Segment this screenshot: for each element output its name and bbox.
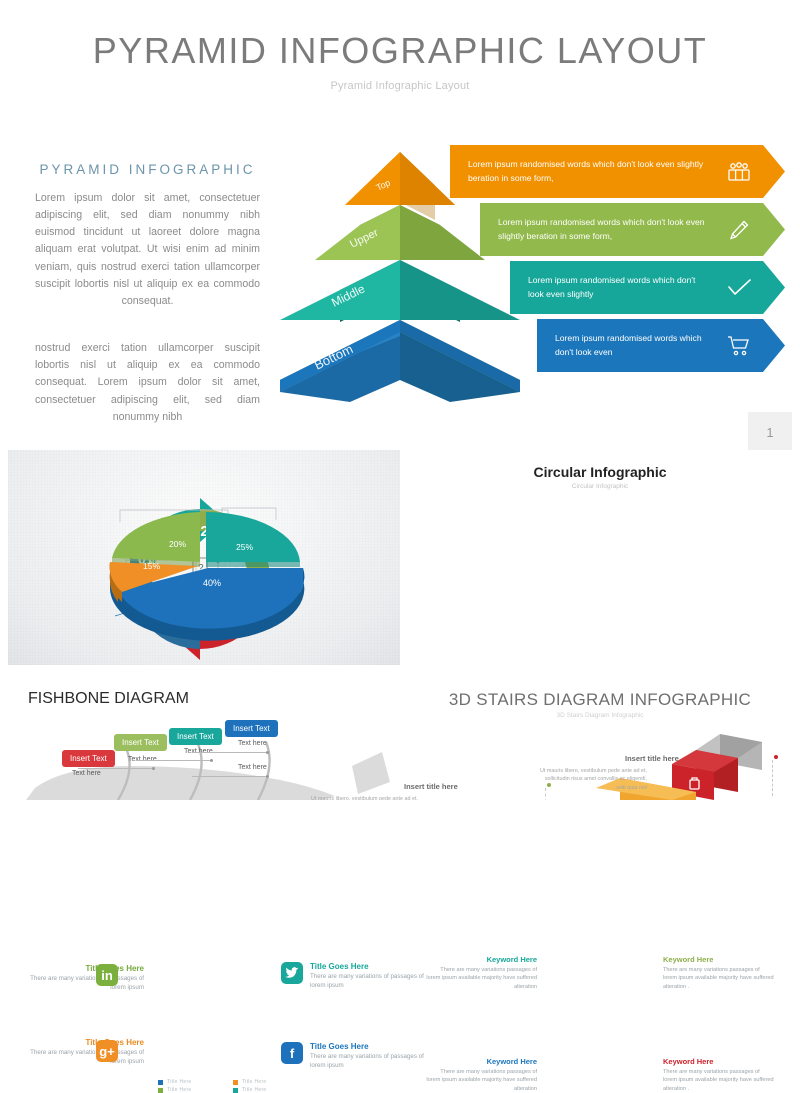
stairs-item-1-desc: Ut mauris libero, vestibulum pede ante a…: [537, 767, 647, 792]
pie-value-linkedin: 20%: [169, 539, 186, 549]
slide-charts: 40% 25% 20% 15% Title Goes Here There ar…: [0, 450, 800, 670]
fishbone-chip-4[interactable]: Insert Text: [225, 720, 278, 737]
pie-value-googleplus: 15%: [143, 561, 160, 571]
legend-swatch: [158, 1088, 163, 1093]
banner-upper-text: Lorem ipsum randomised words which don't…: [498, 216, 713, 243]
cart-icon: [719, 335, 759, 357]
banner-bottom[interactable]: Lorem ipsum randomised words which don't…: [537, 319, 785, 372]
twitter-icon[interactable]: [281, 962, 303, 984]
banner-top-text: Lorem ipsum randomised words which don't…: [468, 158, 713, 185]
facebook-icon[interactable]: f: [281, 1042, 303, 1064]
pie-label-twitter-desc: There are many variations of passages of…: [310, 973, 428, 991]
pie-label-linkedin-title: Title Goes Here: [26, 964, 144, 973]
pie-legend-item: Title Here: [233, 1087, 308, 1093]
pie-label-googleplus-title: Title Goes Here: [26, 1038, 144, 1047]
pie-label-linkedin: Title Goes Here There are many variation…: [26, 964, 144, 993]
circular-keyword-04-desc: There are many variations passages of lo…: [663, 1068, 775, 1093]
pie-value-twitter: 25%: [236, 542, 253, 552]
legend-swatch: [233, 1080, 238, 1085]
fishbone-title: FISHBONE DIAGRAM: [28, 690, 189, 708]
legend-label: Title Here: [242, 1079, 267, 1085]
circular-keyword-03-desc: There are many variations passages of lo…: [663, 966, 775, 991]
slide-pyramid-infographic: PYRAMID INFOGRAPHIC LAYOUT Pyramid Infog…: [0, 0, 800, 440]
fishbone-line-3: [136, 760, 210, 761]
pie-legend-item: Title Here: [158, 1087, 233, 1093]
pencil-icon: [719, 218, 759, 242]
fishbone-chip-1[interactable]: Insert Text: [62, 750, 115, 767]
left-heading: PYRAMID INFOGRAPHIC: [35, 162, 260, 177]
pyramid-level-middle: [280, 260, 520, 332]
pie-chart-graphic: 40% 25% 20% 15%: [0, 450, 400, 670]
stairs-item-2-title: Insert title here: [404, 782, 458, 791]
fishbone-dot-4a: [266, 751, 269, 754]
fishbone-chip-3[interactable]: Insert Text: [169, 728, 222, 745]
circular-keyword-02-title: Keyword Here: [425, 955, 537, 964]
pie-label-facebook-desc: There are many variations of passages of…: [310, 1053, 428, 1071]
circular-keyword-01: Keyword Here There are many variations p…: [425, 1057, 537, 1093]
pie-label-googleplus: Title Goes Here There are many variation…: [26, 1038, 144, 1067]
banner-top[interactable]: Lorem ipsum randomised words which don't…: [450, 145, 785, 198]
googleplus-icon[interactable]: g+: [96, 1040, 118, 1062]
banner-upper[interactable]: Lorem ipsum randomised words which don't…: [480, 203, 785, 256]
circular-keyword-03: Keyword Here There are many variations p…: [663, 955, 775, 991]
fishbone-graphic: [0, 710, 400, 800]
circular-title: Circular Infographic: [400, 464, 800, 480]
legend-label: Title Here: [167, 1079, 192, 1085]
fishbone-dot-2: [152, 767, 155, 770]
circular-keyword-04: Keyword Here There are many variations p…: [663, 1057, 775, 1093]
pyramid-diagram: Top Upper Middle Bottom Lorem ipsum rand…: [275, 140, 785, 405]
pie-legend: Title Here Title Here Title Here Title H…: [158, 1079, 308, 1093]
legend-swatch: [158, 1080, 163, 1085]
stairs-item-1-dot: [774, 755, 778, 759]
pie-label-linkedin-desc: There are many variations of passages of…: [26, 975, 144, 993]
fishbone-sub-4a: Text here: [238, 740, 267, 747]
pie-label-facebook: Title Goes Here There are many variation…: [310, 1042, 428, 1071]
slide-bottom-previews: FISHBONE DIAGRAM Insert Text Text here I…: [0, 672, 800, 800]
left-paragraph-2: nostrud exerci tation ullamcorper suscip…: [35, 340, 260, 426]
pie-legend-item: Title Here: [233, 1079, 308, 1085]
fishbone-chip-2[interactable]: Insert Text: [114, 734, 167, 751]
circular-keyword-04-title: Keyword Here: [663, 1057, 775, 1066]
circular-keyword-02-desc: There are many variations passages of lo…: [425, 966, 537, 991]
circular-infographic-panel: Circular Infographic Circular Infographi…: [400, 450, 800, 670]
page-title: PYRAMID INFOGRAPHIC LAYOUT: [0, 30, 800, 72]
legend-label: Title Here: [242, 1087, 267, 1093]
stairs-title: 3D STAIRS DIAGRAM INFOGRAPHIC: [400, 690, 800, 710]
check-icon: [719, 277, 759, 299]
stairs-item-2-desc: Ut mauris libero, vestibulum pede ante a…: [308, 795, 418, 800]
banner-bottom-text: Lorem ipsum randomised words which don't…: [555, 332, 713, 359]
pie-label-facebook-title: Title Goes Here: [310, 1042, 428, 1051]
circular-keyword-01-title: Keyword Here: [425, 1057, 537, 1066]
fishbone-line-4b: [192, 776, 266, 777]
left-text-column: PYRAMID INFOGRAPHIC Lorem ipsum dolor si…: [35, 162, 260, 466]
banner-middle[interactable]: Lorem ipsum randomised words which don't…: [510, 261, 785, 314]
linkedin-icon[interactable]: in: [96, 964, 118, 986]
pie-label-twitter: Title Goes Here There are many variation…: [310, 962, 428, 991]
pie-legend-item: Title Here: [158, 1079, 233, 1085]
fishbone-dot-3: [210, 759, 213, 762]
stairs-item-1-title: Insert title here: [625, 754, 679, 763]
circular-keyword-03-title: Keyword Here: [663, 955, 775, 964]
fishbone-sub-1: Text here: [72, 770, 101, 777]
legend-label: Title Here: [167, 1087, 192, 1093]
pyramid-level-upper: [315, 205, 485, 260]
stairs-subtitle: 3D Stairs Diagram Infographic: [400, 712, 800, 719]
people-icon: [719, 162, 759, 182]
stairs-item-2-line: [545, 788, 546, 800]
circular-keyword-01-desc: There are many variations passages of lo…: [425, 1068, 537, 1093]
pie-label-twitter-title: Title Goes Here: [310, 962, 428, 971]
page-number-badge: 1: [748, 412, 792, 452]
circular-keyword-02: Keyword Here There are many variations p…: [425, 955, 537, 991]
circular-subtitle: Circular Infographic: [400, 483, 800, 490]
legend-swatch: [233, 1088, 238, 1093]
stairs-item-2-dot: [547, 783, 551, 787]
fishbone-sub-4b: Text here: [238, 764, 267, 771]
page-subtitle: Pyramid Infographic Layout: [0, 80, 800, 92]
fishbone-line-2: [78, 768, 152, 769]
pie-label-googleplus-desc: There are many variations of passages of…: [26, 1049, 144, 1067]
pie-value-facebook: 40%: [203, 578, 221, 588]
fishbone-line-4a: [192, 752, 266, 753]
left-paragraph-1: Lorem ipsum dolor sit amet, consectetuer…: [35, 190, 260, 310]
stairs-item-1-line: [772, 760, 773, 796]
banner-middle-text: Lorem ipsum randomised words which don't…: [528, 274, 713, 301]
fishbone-dot-4b: [266, 775, 269, 778]
